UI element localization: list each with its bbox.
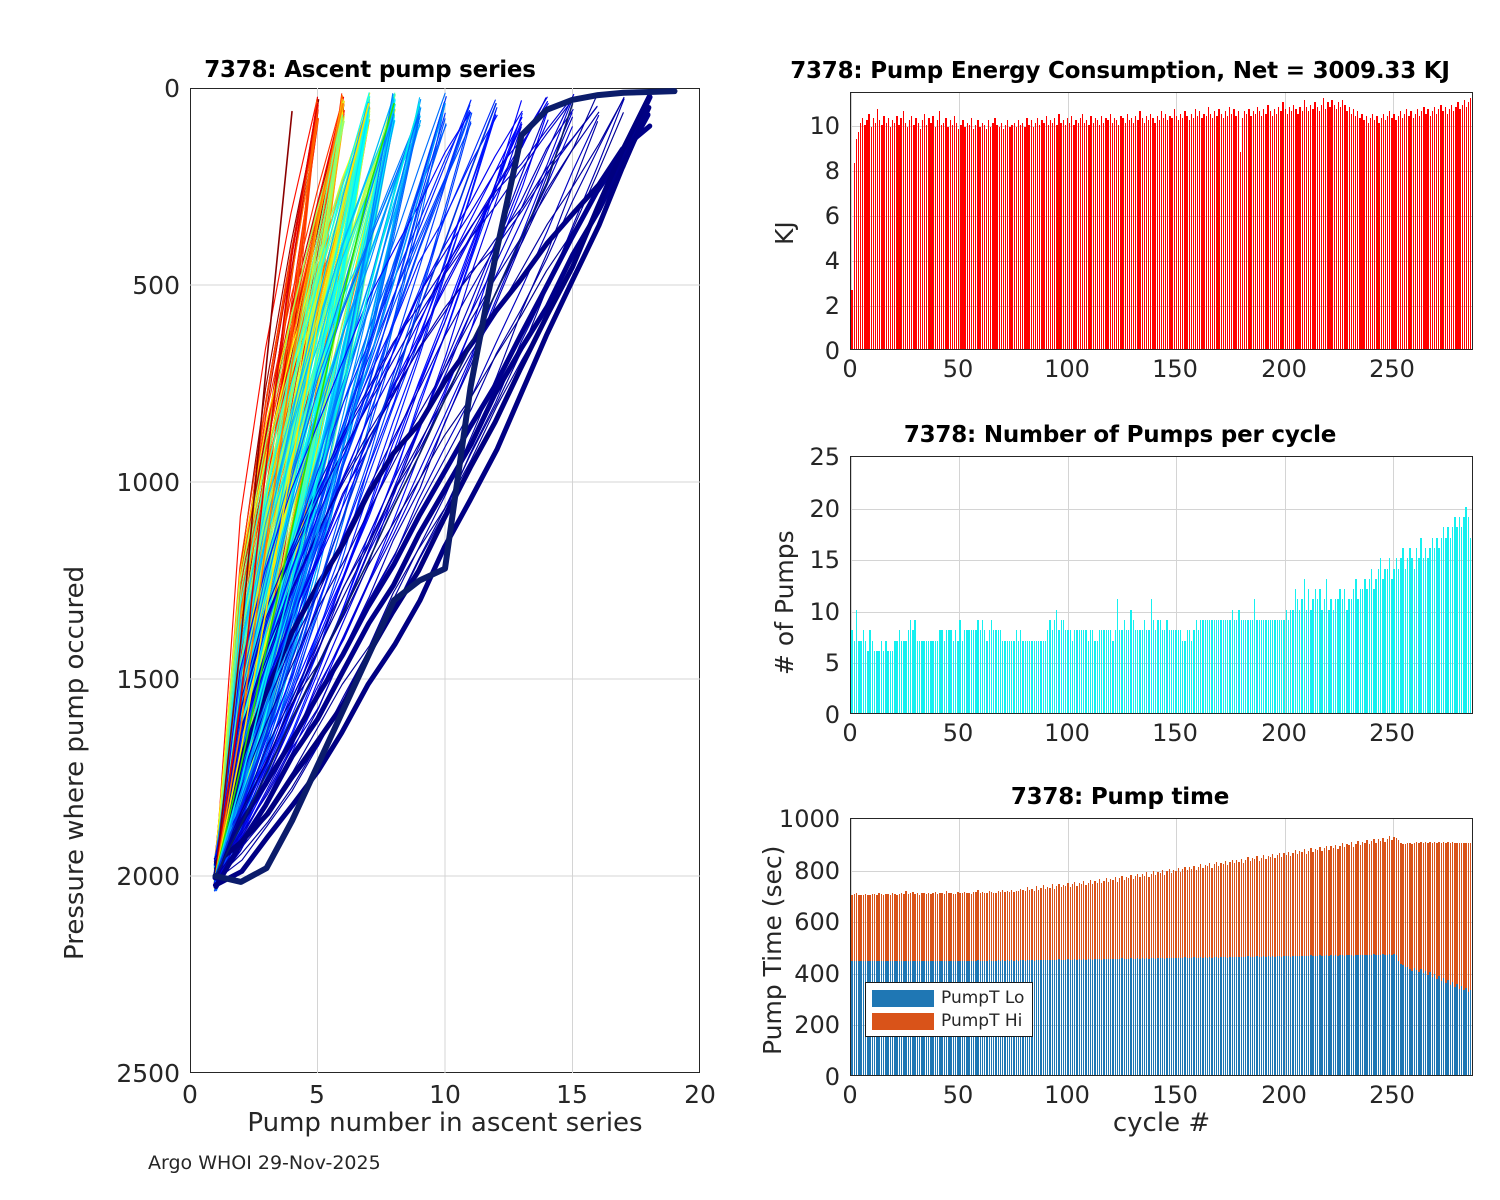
bar-pumpt-hi xyxy=(863,895,864,961)
bar xyxy=(1054,118,1055,349)
bar-pumpt-lo xyxy=(1205,957,1206,1075)
bar xyxy=(1031,120,1032,349)
bar xyxy=(1409,548,1410,713)
bar xyxy=(980,630,981,713)
bar xyxy=(907,127,908,349)
bar xyxy=(1157,116,1158,349)
bar-pumpt-lo xyxy=(1045,960,1046,1075)
bar xyxy=(1137,120,1138,349)
bar xyxy=(881,125,882,349)
bar xyxy=(1022,641,1023,713)
bar xyxy=(930,123,931,349)
bar-pumpt-lo xyxy=(1299,956,1300,1075)
bar-pumpt-hi xyxy=(1144,876,1145,959)
bar-pumpt-hi xyxy=(1270,857,1271,957)
bar xyxy=(1115,630,1116,713)
bar-pumpt-hi xyxy=(1142,874,1143,958)
bar-pumpt-hi xyxy=(1436,843,1437,979)
bar-pumpt-lo xyxy=(1110,959,1111,1075)
bar-pumpt-hi xyxy=(959,893,960,961)
bar-pumpt-hi xyxy=(1193,866,1194,958)
bar xyxy=(1380,558,1381,713)
bar xyxy=(975,125,976,349)
bar-pumpt-hi xyxy=(995,893,996,961)
bar xyxy=(1038,641,1039,713)
bar xyxy=(1452,527,1453,713)
pumps-xtick-250: 250 xyxy=(1367,719,1417,747)
bar xyxy=(1167,120,1168,349)
bar xyxy=(1235,116,1236,349)
bar xyxy=(1033,127,1034,349)
bar-pumpt-hi xyxy=(923,893,924,962)
bar-pumpt-lo xyxy=(1454,987,1455,1075)
bar xyxy=(877,109,878,349)
pumptime-xtick-0: 0 xyxy=(825,1081,875,1109)
bar xyxy=(1442,111,1443,349)
bar-pumpt-hi xyxy=(980,893,981,961)
bar xyxy=(1297,114,1298,349)
bar xyxy=(894,123,895,349)
bar-pumpt-hi xyxy=(1227,865,1228,957)
bar-pumpt-hi xyxy=(1034,891,1035,961)
bar-pumpt-lo xyxy=(1079,959,1080,1075)
bar xyxy=(941,125,942,349)
bar-pumpt-hi xyxy=(1236,860,1237,956)
bar xyxy=(1020,630,1021,713)
bar-pumpt-hi xyxy=(1301,852,1302,956)
bar xyxy=(1120,116,1121,349)
bar-pumpt-hi xyxy=(1074,882,1075,959)
bar xyxy=(1154,123,1155,349)
bar xyxy=(1272,116,1273,349)
bar-pumpt-lo xyxy=(1304,956,1305,1075)
figure-canvas: 7378: Ascent pump series 0 500 1000 1500… xyxy=(0,0,1500,1200)
bar xyxy=(1184,111,1185,349)
bar xyxy=(1009,641,1010,713)
bar xyxy=(1292,610,1293,713)
bar-pumpt-hi xyxy=(1218,866,1219,958)
bar xyxy=(1220,620,1221,713)
bar xyxy=(1287,114,1288,349)
bar xyxy=(993,630,994,713)
bar xyxy=(1174,109,1175,349)
bar-pumpt-hi xyxy=(1447,842,1448,980)
bar-pumpt-lo xyxy=(1061,960,1062,1075)
bar-pumpt-hi xyxy=(1207,866,1208,957)
bar-pumpt-lo xyxy=(1209,957,1210,1075)
bar-pumpt-hi xyxy=(1256,856,1257,956)
bar-pumpt-lo xyxy=(1297,956,1298,1075)
bar-pumpt-hi xyxy=(1420,842,1421,969)
bar-pumpt-lo xyxy=(1085,960,1086,1075)
bar-pumpt-hi xyxy=(1175,871,1176,958)
bar xyxy=(1423,107,1424,349)
bar xyxy=(1247,620,1248,713)
bar-pumpt-lo xyxy=(1047,960,1048,1075)
bar-pumpt-hi xyxy=(1362,842,1363,955)
bar-pumpt-hi xyxy=(1027,887,1028,960)
bar-pumpt-hi xyxy=(890,895,891,962)
bar xyxy=(1308,111,1309,349)
bar xyxy=(1018,641,1019,713)
bar-pumpt-hi xyxy=(1339,846,1340,955)
bar-pumpt-lo xyxy=(1103,959,1104,1075)
bar xyxy=(1209,620,1210,713)
bar-pumpt-hi xyxy=(1007,891,1008,961)
bar xyxy=(1418,558,1419,713)
legend-entry-pumpt-lo[interactable]: PumpT Lo xyxy=(872,988,1024,1008)
bar xyxy=(905,641,906,713)
legend-entry-pumpt-hi[interactable]: PumpT Hi xyxy=(872,1011,1024,1031)
bar xyxy=(1193,118,1194,349)
bar xyxy=(962,120,963,349)
bar xyxy=(1423,558,1424,713)
bar xyxy=(1058,114,1059,349)
bar xyxy=(890,651,891,713)
bar-pumpt-hi xyxy=(1139,877,1140,959)
bar-pumpt-lo xyxy=(1119,959,1120,1075)
bar-pumpt-hi xyxy=(1452,842,1453,982)
bar-pumpt-lo xyxy=(1099,959,1100,1075)
pumps-per-cycle-axes xyxy=(850,456,1473,714)
bar-pumpt-lo xyxy=(1263,956,1264,1075)
bar xyxy=(1361,114,1362,349)
bar-pumpt-hi xyxy=(1454,843,1455,987)
bar xyxy=(1090,116,1091,349)
bar xyxy=(1308,589,1309,713)
bar xyxy=(977,120,978,349)
bar xyxy=(1317,107,1318,349)
bar-pumpt-lo xyxy=(1468,992,1469,1075)
panel-ascent-pump-series: 7378: Ascent pump series 0 500 1000 1500… xyxy=(0,0,740,1200)
bar xyxy=(875,123,876,349)
bar xyxy=(879,120,880,349)
bar-pumpt-hi xyxy=(1173,870,1174,958)
bar xyxy=(988,120,989,349)
bar xyxy=(956,123,957,349)
pumps-ytick-20: 20 xyxy=(780,495,840,523)
bar-pumpt-hi xyxy=(896,895,897,962)
bar xyxy=(1110,114,1111,349)
bar-pumpt-lo xyxy=(1180,958,1181,1075)
bar xyxy=(1024,127,1025,349)
bar xyxy=(1196,620,1197,713)
bar xyxy=(1366,589,1367,713)
bar xyxy=(941,630,942,713)
bar xyxy=(1223,118,1224,349)
ascent-ytick-0: 0 xyxy=(110,74,180,103)
bar-pumpt-hi xyxy=(1429,842,1430,972)
bar xyxy=(1218,109,1219,349)
bar-pumpt-hi xyxy=(1117,882,1118,960)
pumps-xtick-150: 150 xyxy=(1150,719,1200,747)
bar xyxy=(1063,620,1064,713)
bar xyxy=(854,163,855,349)
bar xyxy=(1049,620,1050,713)
bar xyxy=(1223,620,1224,713)
bar xyxy=(890,127,891,349)
bar-pumpt-lo xyxy=(1076,960,1077,1075)
bar xyxy=(964,127,965,349)
bar-pumpt-lo xyxy=(1375,955,1376,1075)
bar xyxy=(975,630,976,713)
bar xyxy=(1357,599,1358,713)
bar-pumpt-hi xyxy=(1286,855,1287,957)
bar xyxy=(1254,599,1255,713)
ascent-ytick-2000: 2000 xyxy=(110,862,180,891)
bar-pumpt-lo xyxy=(1270,957,1271,1075)
bar-pumpt-lo xyxy=(1295,956,1296,1075)
bar-pumpt-hi xyxy=(964,892,965,961)
bar xyxy=(1274,620,1275,713)
bar xyxy=(1374,120,1375,349)
bar xyxy=(1336,109,1337,349)
bar xyxy=(958,129,959,349)
bar xyxy=(1272,620,1273,713)
bar-pumpt-hi xyxy=(1133,879,1134,959)
bar xyxy=(1195,109,1196,349)
bar-pumpt-hi xyxy=(1166,871,1167,958)
bar-pumpt-lo xyxy=(1128,959,1129,1075)
bar-pumpt-lo xyxy=(1407,967,1408,1075)
bar xyxy=(1427,109,1428,349)
bar-pumpt-hi xyxy=(1097,883,1098,960)
bar xyxy=(968,630,969,713)
bar xyxy=(1400,111,1401,349)
energy-xtick-250: 250 xyxy=(1367,355,1417,383)
bar-pumpt-hi xyxy=(1312,852,1313,956)
bar xyxy=(1072,641,1073,713)
bar xyxy=(1389,558,1390,713)
bar xyxy=(892,120,893,349)
bar xyxy=(1288,620,1289,713)
bar xyxy=(1001,123,1002,349)
bar xyxy=(1088,641,1089,713)
bar xyxy=(1335,599,1336,713)
bar-pumpt-lo xyxy=(1202,958,1203,1075)
pump-energy-bars xyxy=(851,93,1472,349)
bar-pumpt-hi xyxy=(867,895,868,962)
bar xyxy=(1159,120,1160,349)
bar-pumpt-hi xyxy=(1364,843,1365,955)
bar xyxy=(1121,630,1122,713)
bar-pumpt-lo xyxy=(858,961,859,1075)
bar xyxy=(1393,569,1394,713)
bar xyxy=(1022,123,1023,349)
bar-pumpt-lo xyxy=(856,961,857,1075)
bar-pumpt-hi xyxy=(946,891,947,961)
bar xyxy=(1259,111,1260,349)
bar-pumpt-lo xyxy=(1178,958,1179,1075)
bar-pumpt-lo xyxy=(1337,956,1338,1075)
bar-pumpt-lo xyxy=(1382,954,1383,1075)
bar-pumpt-lo xyxy=(1330,955,1331,1075)
bar-pumpt-lo xyxy=(1155,959,1156,1075)
bar-pumpt-hi xyxy=(1216,862,1217,957)
bar-pumpt-hi xyxy=(1468,843,1469,993)
bar xyxy=(1351,114,1352,349)
pumptime-xtick-200: 200 xyxy=(1259,1081,1309,1109)
bar-pumpt-hi xyxy=(926,894,927,961)
pumptime-yaxis-label: Pump Time (sec) xyxy=(758,846,787,1055)
bar-pumpt-lo xyxy=(1243,957,1244,1075)
pump-time-legend[interactable]: PumpT Lo PumpT Hi xyxy=(865,982,1033,1037)
bar-pumpt-hi xyxy=(1135,876,1136,959)
pumps-per-cycle-title: 7378: Number of Pumps per cycle xyxy=(740,422,1500,448)
bar-pumpt-hi xyxy=(1414,843,1415,968)
bar-pumpt-lo xyxy=(1232,957,1233,1075)
bar-pumpt-hi xyxy=(1178,868,1179,958)
bar xyxy=(996,125,997,349)
bar-pumpt-hi xyxy=(1371,841,1372,955)
bar-pumpt-lo xyxy=(1290,957,1291,1075)
energy-ytick-10: 10 xyxy=(780,112,840,140)
bar-pumpt-hi xyxy=(1450,843,1451,985)
bar xyxy=(1265,114,1266,349)
bar xyxy=(1101,630,1102,713)
bar-pumpt-lo xyxy=(1272,956,1273,1075)
bar xyxy=(1083,630,1084,713)
bar-pumpt-hi xyxy=(1225,861,1226,957)
bar xyxy=(1312,599,1313,713)
bar xyxy=(1470,98,1471,349)
bar xyxy=(899,630,900,713)
bar-pumpt-hi xyxy=(993,893,994,961)
bar-pumpt-hi xyxy=(1295,850,1296,955)
bar xyxy=(1463,517,1464,713)
bar xyxy=(864,125,865,349)
energy-xtick-200: 200 xyxy=(1259,355,1309,383)
bar xyxy=(1327,102,1328,349)
bar xyxy=(1180,114,1181,349)
bar xyxy=(945,118,946,349)
bar xyxy=(1346,610,1347,713)
bar-pumpt-lo xyxy=(1049,960,1050,1075)
bar-pumpt-hi xyxy=(921,893,922,961)
bar xyxy=(1065,125,1066,349)
bar xyxy=(1005,125,1006,349)
bar xyxy=(1103,123,1104,349)
bar-pumpt-hi xyxy=(1391,840,1392,955)
bar-pumpt-lo xyxy=(1121,958,1122,1075)
bar xyxy=(1441,538,1442,713)
bar-pumpt-lo xyxy=(1081,960,1082,1075)
bar xyxy=(1171,118,1172,349)
bar xyxy=(1429,548,1430,713)
bar-pumpt-lo xyxy=(1063,960,1064,1075)
bar xyxy=(1052,123,1053,349)
bar xyxy=(1166,620,1167,713)
bar xyxy=(1283,620,1284,713)
bar-pumpt-lo xyxy=(1207,958,1208,1075)
bar xyxy=(1206,116,1207,349)
bar-pumpt-hi xyxy=(1335,845,1336,955)
bar-pumpt-lo xyxy=(1225,957,1226,1075)
bar xyxy=(939,630,940,713)
bar xyxy=(1045,641,1046,713)
energy-xtick-150: 150 xyxy=(1150,355,1200,383)
bar xyxy=(1438,548,1439,713)
bar-pumpt-lo xyxy=(1211,958,1212,1075)
bar-pumpt-lo xyxy=(1432,977,1433,1075)
bar xyxy=(1319,589,1320,713)
bar-pumpt-lo xyxy=(1148,959,1149,1075)
bar xyxy=(1193,630,1194,713)
bar-pumpt-hi xyxy=(1306,854,1307,957)
bar-pumpt-hi xyxy=(1465,843,1466,988)
bar-pumpt-hi xyxy=(1182,869,1183,958)
bar xyxy=(930,641,931,713)
bar xyxy=(1110,630,1111,713)
bar xyxy=(1137,630,1138,713)
bar-pumpt-hi xyxy=(1389,836,1390,954)
bar-pumpt-hi xyxy=(1400,843,1401,964)
bar-pumpt-lo xyxy=(1339,955,1340,1075)
bar-pumpt-hi xyxy=(1265,859,1266,957)
bar xyxy=(1004,641,1005,713)
bar-pumpt-lo xyxy=(1137,958,1138,1075)
bar-pumpt-hi xyxy=(1405,844,1406,967)
bar xyxy=(1398,569,1399,713)
bar-pumpt-hi xyxy=(1290,856,1291,957)
bar-pumpt-lo xyxy=(1384,955,1385,1075)
bar-pumpt-lo xyxy=(1342,955,1343,1075)
bar xyxy=(994,118,995,349)
bar-pumpt-lo xyxy=(1130,958,1131,1075)
bar xyxy=(1324,599,1325,713)
bar-pumpt-hi xyxy=(912,892,913,961)
bar-pumpt-lo xyxy=(854,961,855,1075)
bar xyxy=(867,651,868,713)
bar xyxy=(1129,120,1130,349)
pumps-xtick-200: 200 xyxy=(1259,719,1309,747)
bar-pumpt-hi xyxy=(1328,850,1329,956)
bar xyxy=(856,610,857,713)
bar xyxy=(1368,123,1369,349)
bar xyxy=(1402,118,1403,349)
bar xyxy=(1035,123,1036,349)
bar-pumpt-lo xyxy=(1126,959,1127,1075)
bar xyxy=(862,118,863,349)
bar xyxy=(932,641,933,713)
bar-pumpt-hi xyxy=(1326,846,1327,955)
bar xyxy=(955,630,956,713)
bar xyxy=(1360,589,1361,713)
bar-pumpt-hi xyxy=(1441,843,1442,981)
bar-pumpt-lo xyxy=(1423,973,1424,1075)
bar-pumpt-lo xyxy=(1391,955,1392,1075)
ascent-ytick-1500: 1500 xyxy=(110,665,180,694)
bar xyxy=(1434,548,1435,713)
bar-pumpt-hi xyxy=(1090,880,1091,959)
bar xyxy=(1465,507,1466,713)
bar-pumpt-hi xyxy=(1357,841,1358,955)
bar-pumpt-hi xyxy=(1470,843,1471,990)
bar-pumpt-lo xyxy=(1164,959,1165,1075)
bar xyxy=(1278,107,1279,349)
bar-pumpt-lo xyxy=(1189,958,1190,1075)
bar xyxy=(1082,114,1083,349)
bar xyxy=(1124,620,1125,713)
ascent-pump-series-plot xyxy=(190,88,700,1073)
bar-pumpt-hi xyxy=(865,894,866,961)
bar-pumpt-hi xyxy=(930,894,931,961)
bar xyxy=(1261,620,1262,713)
bar xyxy=(1425,548,1426,713)
bar xyxy=(1457,102,1458,349)
bar-pumpt-hi xyxy=(1292,853,1293,956)
bar-pumpt-hi xyxy=(998,891,999,961)
